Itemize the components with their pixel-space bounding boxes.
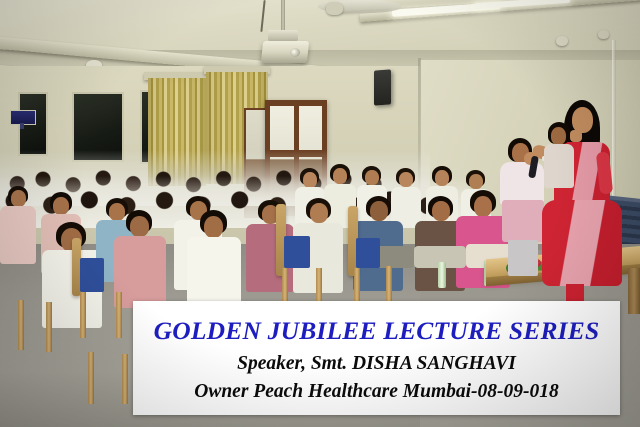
ceiling-fixture: [598, 30, 609, 39]
chair-cushion: [356, 238, 380, 268]
chair-leg: [88, 352, 94, 404]
caption-detail-line: Owner Peach Healthcare Mumbai-08-09-018: [194, 381, 559, 403]
ceiling-fan-hub: [326, 2, 343, 15]
chair-leg: [18, 300, 24, 350]
projector-lens-icon: [290, 48, 300, 57]
water-bottle: [438, 262, 446, 288]
table-leg: [628, 268, 640, 314]
chair-leg: [386, 266, 392, 302]
chair-leg: [116, 292, 122, 338]
projector-rod: [281, 0, 285, 34]
caption-speaker-line: Speaker, Smt. DISHA SANGHAVI: [237, 353, 516, 375]
photo-screenshot: GOLDEN JUBILEE LECTURE SERIES Speaker, S…: [0, 0, 640, 427]
caption-banner: GOLDEN JUBILEE LECTURE SERIES Speaker, S…: [133, 301, 620, 415]
caption-title: GOLDEN JUBILEE LECTURE SERIES: [154, 316, 600, 346]
projector-mount: [268, 30, 298, 41]
chair-leg: [354, 268, 360, 304]
ceiling-projector-icon: [261, 41, 309, 63]
chair-leg: [122, 354, 128, 404]
chair-leg: [80, 292, 86, 338]
ceiling-fixture: [556, 36, 568, 46]
wall-plaque-stem: [20, 123, 24, 129]
wall-speaker-icon: [374, 69, 391, 105]
chair-leg: [46, 302, 52, 352]
chair-cushion: [80, 258, 104, 292]
chair-cushion: [284, 236, 310, 268]
